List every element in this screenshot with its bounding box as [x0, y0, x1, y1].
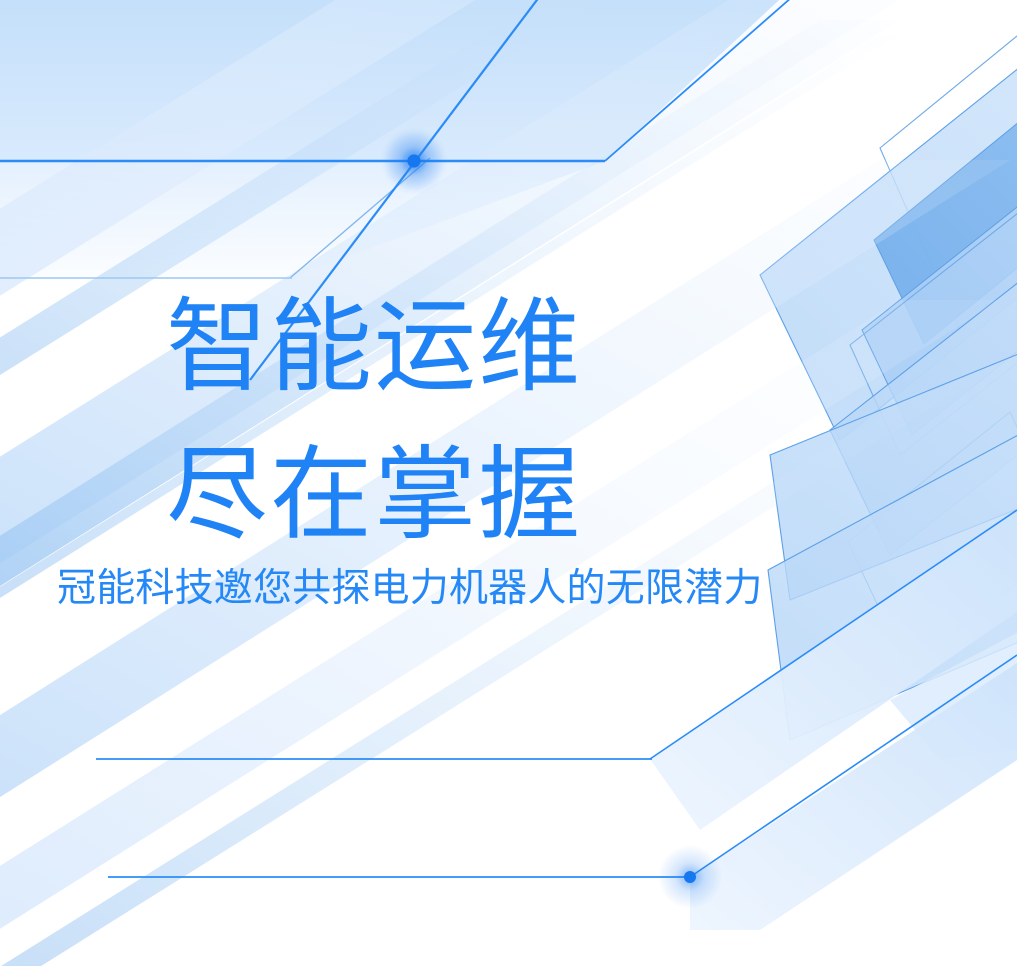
node-core-upper-2 — [408, 155, 421, 168]
node-dot-lower — [658, 845, 722, 909]
node-dot-upper-top — [384, 131, 444, 191]
node-core-lower — [684, 871, 696, 883]
background-decoration — [0, 0, 1017, 966]
poster-canvas: 智能运维 尽在掌握 冠能科技邀您共探电力机器人的无限潜力 — [0, 0, 1017, 966]
